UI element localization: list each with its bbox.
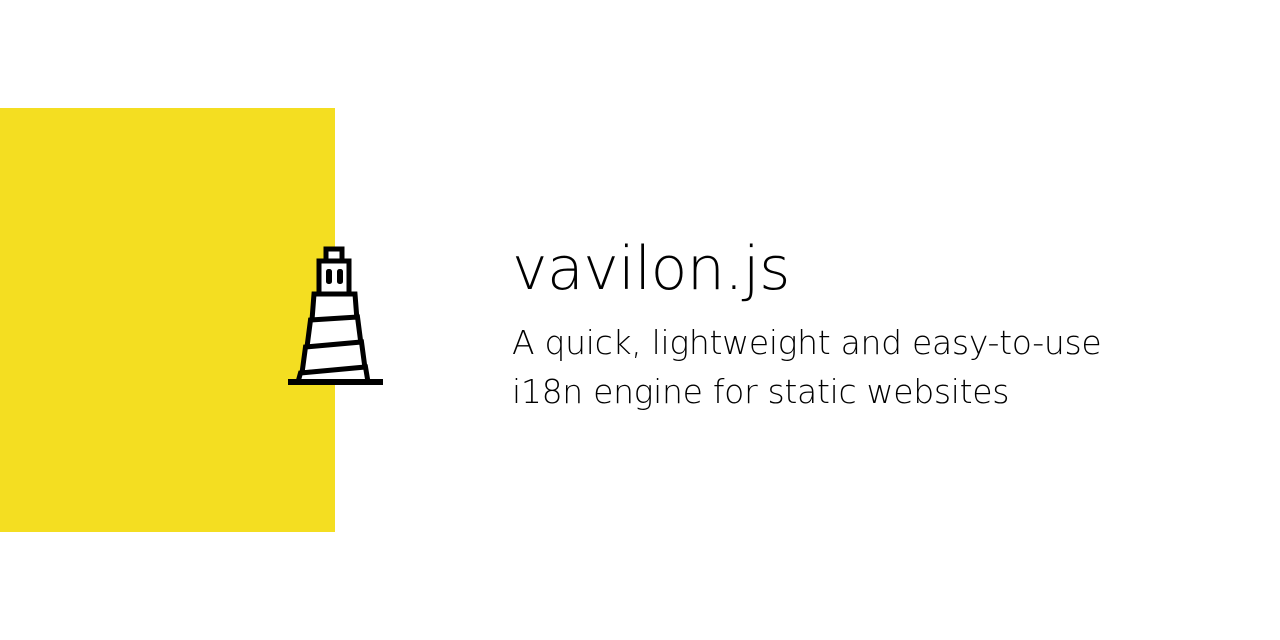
babel-tower-icon	[283, 243, 388, 391]
tagline-line-1: A quick, lightweight and easy-to-use	[512, 318, 1212, 367]
brand-text-block: vavilon.js A quick, lightweight and easy…	[512, 234, 1212, 416]
page-title: vavilon.js	[512, 234, 1212, 304]
tagline-line-2: i18n engine for static websites	[512, 367, 1212, 416]
hero-banner: vavilon.js A quick, lightweight and easy…	[0, 0, 1280, 640]
product-tagline: A quick, lightweight and easy-to-use i18…	[512, 304, 1212, 416]
